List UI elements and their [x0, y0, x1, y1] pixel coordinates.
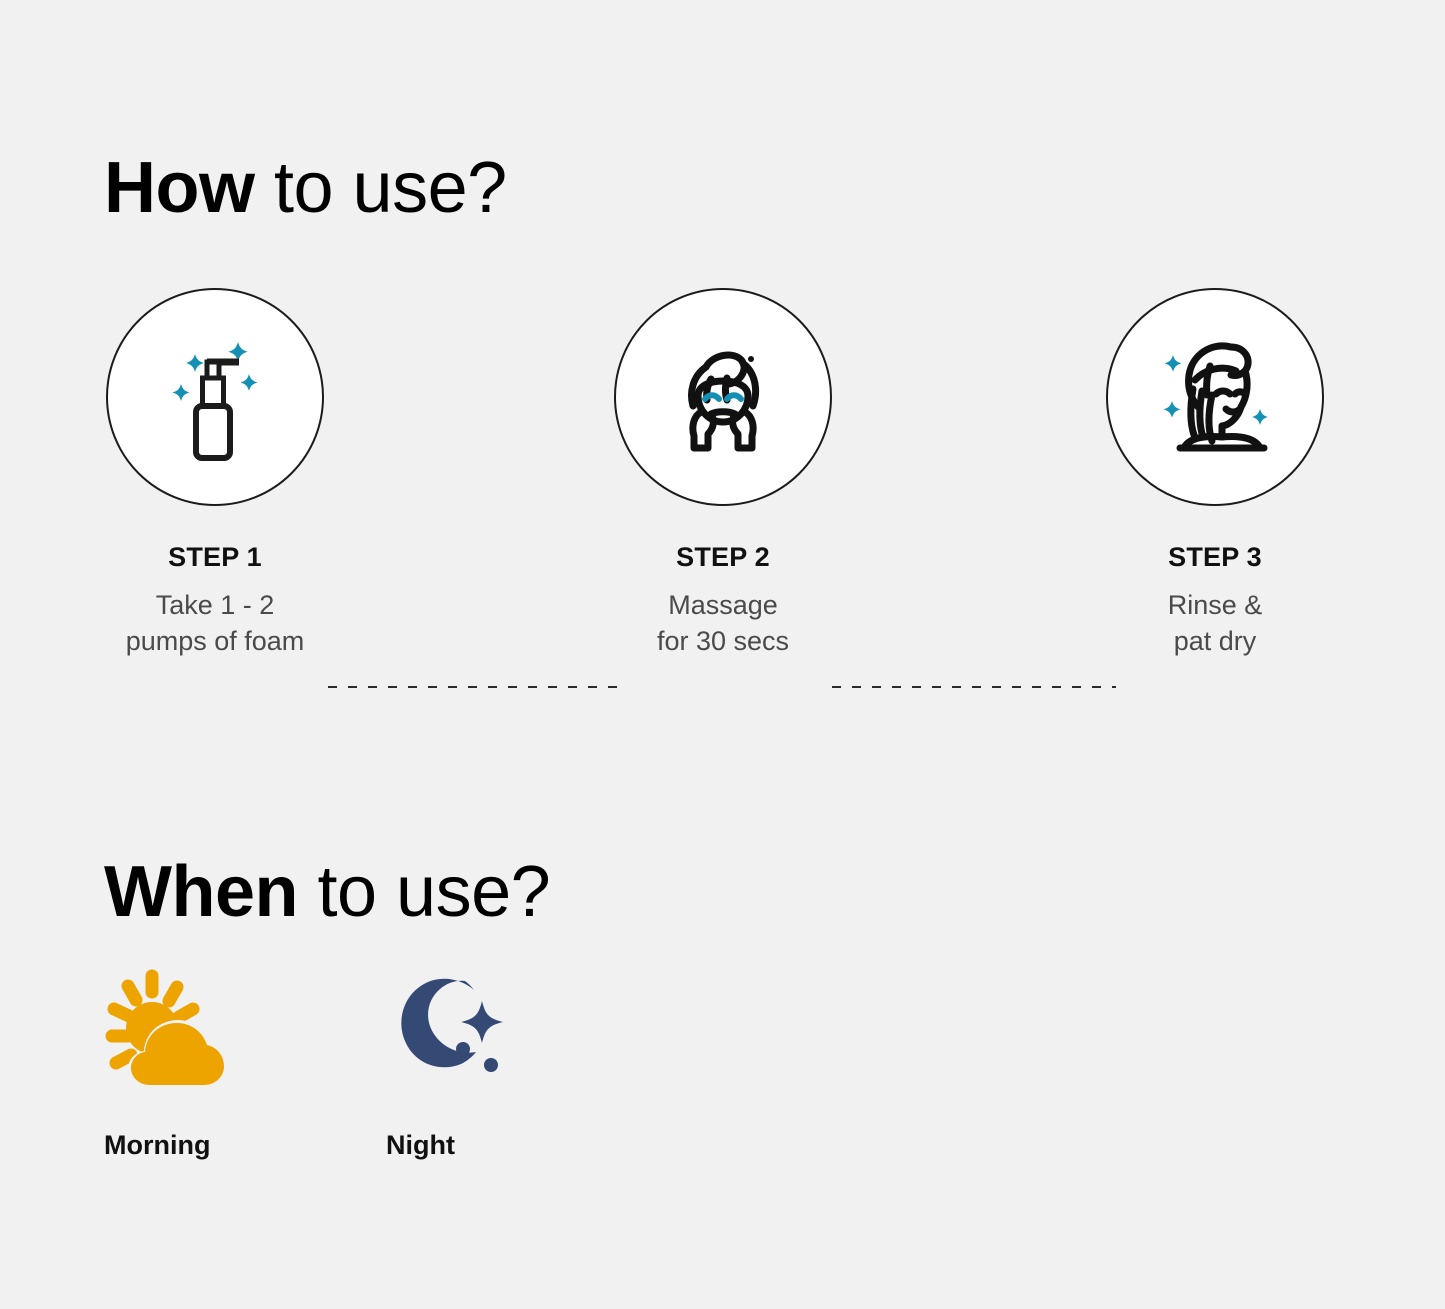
step-3-description: Rinse & pat dry: [1104, 587, 1326, 660]
crescent-moon-stars-icon: [386, 966, 516, 1096]
step-2-icon-circle: [614, 288, 832, 506]
step-2-title: STEP 2: [612, 542, 834, 573]
steps-row: STEP 1 Take 1 - 2 pumps of foam: [0, 288, 1445, 668]
step-connector-1: [328, 686, 618, 688]
when-label-morning: Morning: [104, 1130, 244, 1161]
step-item-3: STEP 3 Rinse & pat dry: [1104, 288, 1326, 660]
woman-towel-pat-dry-icon: [1150, 333, 1280, 461]
when-to-use-heading: When to use?: [104, 856, 550, 928]
step-1-icon-circle: [106, 288, 324, 506]
when-to-use-heading-bold: When: [104, 852, 298, 932]
when-to-use-heading-rest: to use?: [298, 852, 550, 932]
when-to-use-row: Morning Night: [104, 966, 526, 1161]
step-3-icon-circle: [1106, 288, 1324, 506]
when-item-night: Night: [386, 966, 526, 1161]
night-icon-wrap: [386, 966, 526, 1096]
morning-icon-wrap: [104, 966, 244, 1096]
sun-behind-cloud-icon: [104, 966, 234, 1096]
step-2-description: Massage for 30 secs: [612, 587, 834, 660]
when-item-morning: Morning: [104, 966, 244, 1161]
how-to-use-heading: How to use?: [104, 152, 507, 224]
how-to-use-heading-bold: How: [104, 148, 254, 228]
step-1-title: STEP 1: [104, 542, 326, 573]
step-1-description: Take 1 - 2 pumps of foam: [104, 587, 326, 660]
how-to-use-heading-rest: to use?: [254, 148, 506, 228]
step-3-title: STEP 3: [1104, 542, 1326, 573]
step-connector-2: [832, 686, 1116, 688]
when-label-night: Night: [386, 1130, 526, 1161]
step-item-1: STEP 1 Take 1 - 2 pumps of foam: [104, 288, 326, 660]
face-massage-hands-icon: [665, 334, 781, 460]
step-item-2: STEP 2 Massage for 30 secs: [612, 288, 834, 660]
pump-bottle-sparkle-icon: [155, 332, 275, 462]
